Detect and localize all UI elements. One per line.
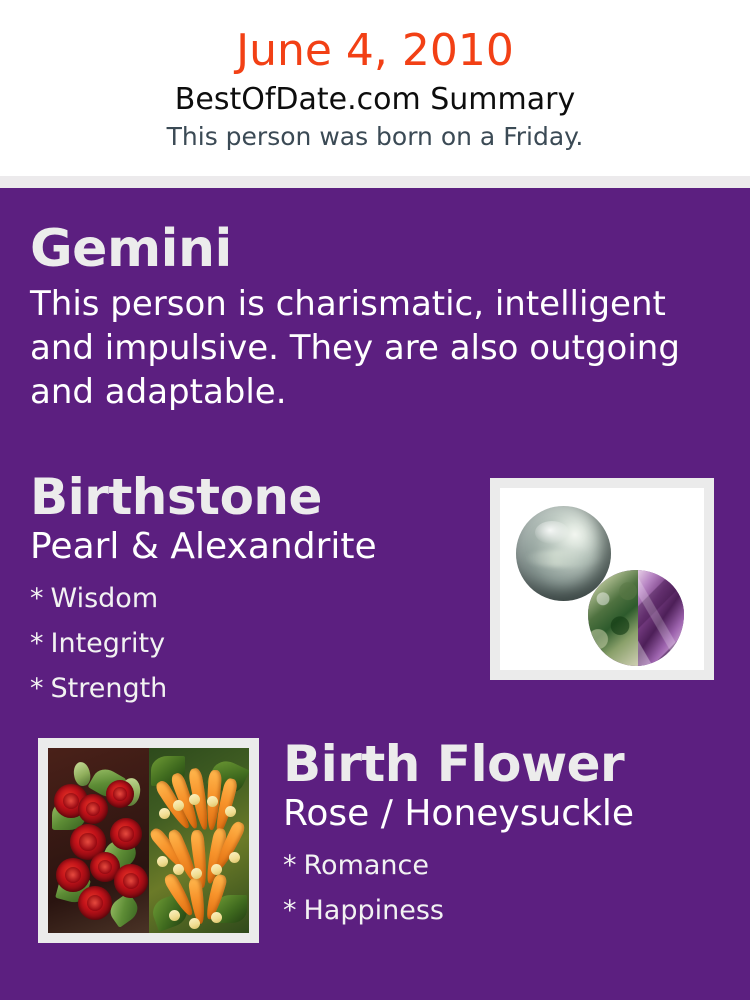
honeysuckle-photo-half xyxy=(149,748,250,933)
birthstone-trait-label: Strength xyxy=(51,673,168,704)
birthstone-trait-label: Integrity xyxy=(51,628,166,659)
list-item: *Romance xyxy=(283,843,743,888)
pearl-highlight-band xyxy=(524,550,604,567)
bullet-star-icon: * xyxy=(30,673,44,704)
birth-flower-trait-label: Romance xyxy=(304,850,429,881)
zodiac-description: This person is charismatic, intelligent … xyxy=(30,278,702,414)
birthstone-heading: Birthstone xyxy=(30,469,480,525)
list-item: *Strength xyxy=(30,666,480,711)
birthstone-image xyxy=(500,488,704,670)
header-divider xyxy=(0,176,750,188)
list-item: *Wisdom xyxy=(30,576,480,621)
bullet-star-icon: * xyxy=(30,583,44,614)
birthstone-image-frame xyxy=(490,478,714,680)
born-weekday-text: This person was born on a Friday. xyxy=(0,118,750,152)
birth-flower-trait-label: Happiness xyxy=(304,895,444,926)
bullet-star-icon: * xyxy=(283,850,297,881)
details-panel: Gemini This person is charismatic, intel… xyxy=(0,188,750,1000)
summary-card: June 4, 2010 BestOfDate.com Summary This… xyxy=(0,0,750,1000)
birth-flower-trait-list: *Romance *Happiness xyxy=(283,835,743,933)
list-item: *Happiness xyxy=(283,888,743,933)
birth-flower-image xyxy=(48,748,249,933)
alexandrite-graphic xyxy=(588,570,684,666)
list-item: *Integrity xyxy=(30,621,480,666)
roses-photo-half xyxy=(48,748,149,933)
alexandrite-faceted-half xyxy=(638,570,684,666)
alexandrite-rough-half xyxy=(588,570,638,666)
birth-flower-value: Rose / Honeysuckle xyxy=(283,792,743,835)
bullet-star-icon: * xyxy=(283,895,297,926)
birthstone-trait-list: *Wisdom *Integrity *Strength xyxy=(30,568,480,711)
birthstone-value: Pearl & Alexandrite xyxy=(30,525,480,568)
birth-flower-image-frame xyxy=(38,738,259,943)
zodiac-sign-heading: Gemini xyxy=(30,220,720,278)
birthstone-section: Birthstone Pearl & Alexandrite *Wisdom *… xyxy=(30,469,480,711)
birthstone-trait-label: Wisdom xyxy=(51,583,159,614)
bullet-star-icon: * xyxy=(30,628,44,659)
birth-flower-heading: Birth Flower xyxy=(283,736,743,792)
card-header: June 4, 2010 BestOfDate.com Summary This… xyxy=(0,0,750,176)
zodiac-section: Gemini This person is charismatic, intel… xyxy=(30,220,720,414)
site-summary-label: BestOfDate.com Summary xyxy=(0,78,750,118)
birth-flower-section: Birth Flower Rose / Honeysuckle *Romance… xyxy=(283,736,743,933)
page-title: June 4, 2010 xyxy=(0,0,750,78)
